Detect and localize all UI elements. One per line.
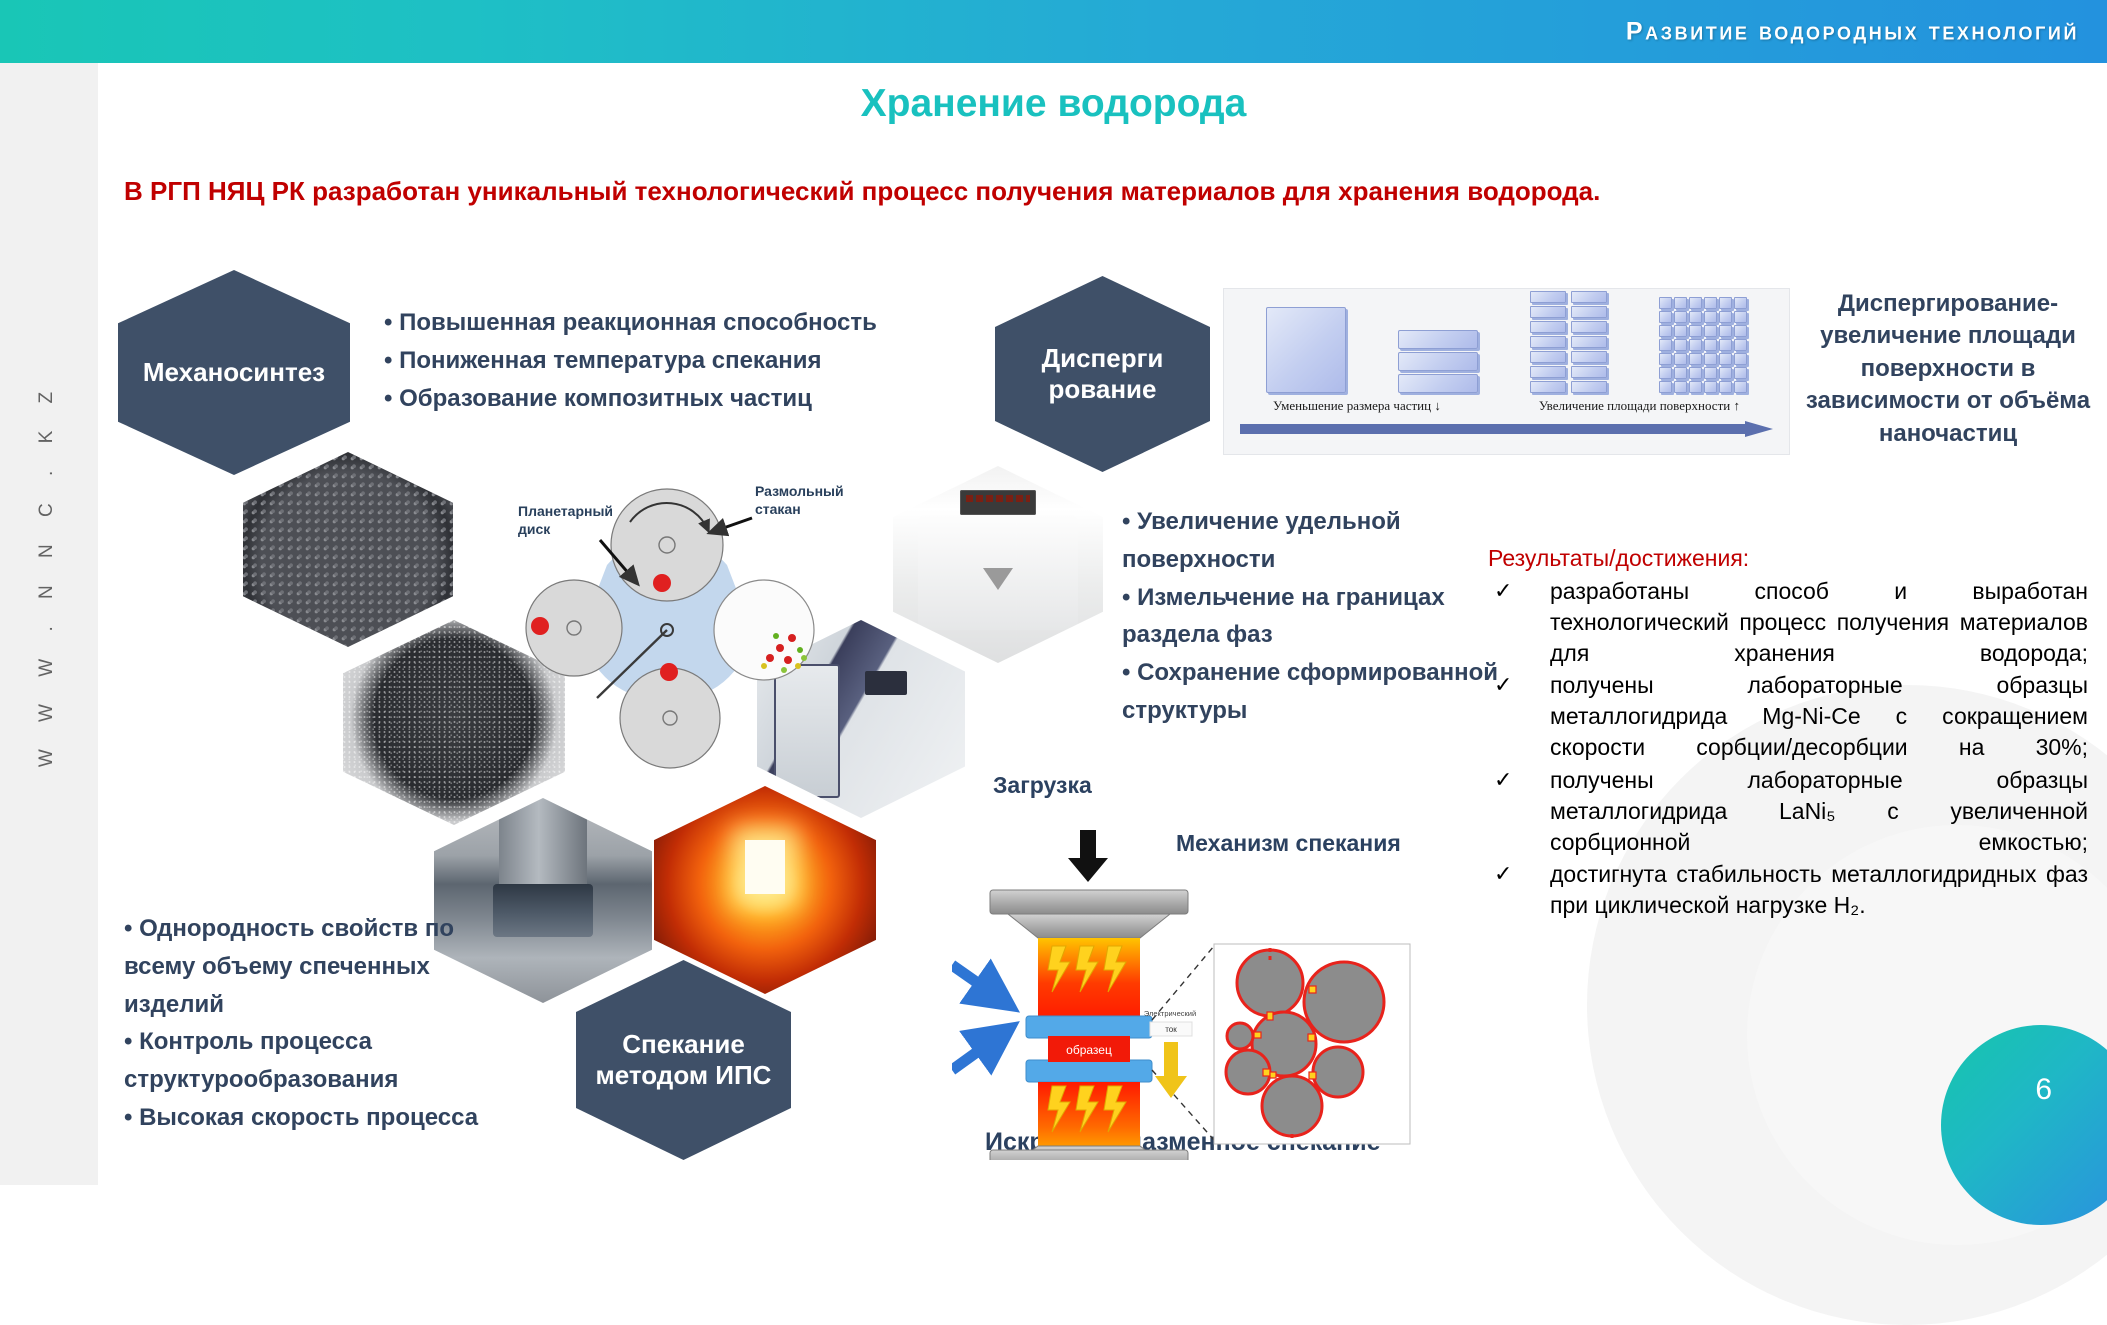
nanocube [1689,381,1702,393]
page-number: 6 [2035,1073,2052,1107]
list-item: ✓ получены лабораторные образцы металлог… [1488,765,2088,857]
plate [1530,321,1566,333]
subdivision-stages [1224,295,1789,393]
nanocube [1689,325,1702,337]
header-title: Развитие водородных технологий [1626,17,2079,46]
check-icon: ✓ [1494,670,1512,699]
check-icon: ✓ [1494,576,1512,605]
label-particle-size-decrease: Уменьшение размера частиц ↓ [1273,398,1441,414]
bullet-item: • Образование композитных частиц [384,382,984,417]
nanocube [1674,339,1687,351]
nanocube [1689,297,1702,309]
nanocube [1719,339,1732,351]
nanocube [1674,367,1687,379]
nanocube [1659,311,1672,323]
nanocube [1719,367,1732,379]
plate [1571,321,1607,333]
plate [1530,336,1566,348]
cabinet-screen [865,671,907,695]
nanocube [1719,353,1732,365]
press-ram [499,798,586,884]
subdivision-axis-labels: Уменьшение размера частиц ↓ Увеличение п… [1224,393,1789,419]
svg-text:Электрический: Электрический [1144,1009,1196,1018]
bullet-item: • Повышенная реакционная способность [384,306,984,341]
nanocube [1734,339,1747,351]
bullets-dispersion: • Увеличение удельной поверхности • Изме… [1122,505,1522,732]
machine-control-panel [960,490,1036,516]
svg-text:образец: образец [1066,1043,1112,1057]
slide-root: Развитие водородных технологий W W W . N… [0,0,2107,1185]
press-die [493,884,593,937]
hex-dispersion-label: Дисперги рование [1042,343,1164,404]
down-arrow-icon: ↓ [1434,398,1441,413]
label-surface-area-increase: Увеличение площади поверхности ↑ [1539,398,1740,414]
slab [1398,352,1478,371]
bullet-item: структурообразования [124,1063,494,1098]
page-subtitle: В РГП НЯЦ РК разработан уникальный техно… [124,176,1600,207]
sps-diagram: образец Электрический ток [952,820,1422,1160]
plate [1571,381,1607,393]
nanocube [1704,325,1717,337]
cube-block [1266,307,1346,393]
nanocube [1659,325,1672,337]
list-item-text: получены лабораторные образцы металлогид… [1550,767,2088,855]
bullet-item: раздела фаз [1122,618,1522,653]
bullet-item: • Сохранение сформированной [1122,656,1522,691]
results-block: Результаты/достижения: ✓ разработаны спо… [1488,545,2088,923]
bullet-item: поверхности [1122,543,1522,578]
bullet-item: изделий [124,988,494,1023]
nanocube [1734,381,1747,393]
check-icon: ✓ [1494,765,1512,794]
nanocube [1659,381,1672,393]
stage-single-cube [1266,307,1346,393]
furnace-hot-core [745,840,785,894]
plate [1530,291,1566,303]
photo-milling-balls [243,452,453,647]
nanocube [1704,381,1717,393]
website-url: W W W . N N C . K Z [36,364,58,784]
nanocube [1674,353,1687,365]
list-item: ✓ достигнута стабильность металлогидридн… [1488,859,2088,921]
nanocube [1719,325,1732,337]
bullet-item: • Увеличение удельной [1122,505,1522,540]
plate [1571,366,1607,378]
sps-label-load: Загрузка [993,772,1092,799]
nanocube [1674,311,1687,323]
plate-grid [1530,291,1607,393]
mill-label-planetary-disk: Планетарный диск [518,503,608,538]
nanocube [1674,381,1687,393]
hex-mechanosynthesis[interactable]: Механосинтез [118,270,350,475]
plate [1571,306,1607,318]
bullet-item: • Однородность свойств по [124,912,494,947]
nanocube [1734,353,1747,365]
nanocube [1704,339,1717,351]
nanocube [1674,325,1687,337]
nanocube [1704,297,1717,309]
bullet-item: • Контроль процесса [124,1025,494,1060]
plate [1571,291,1607,303]
bullet-item: • Высокая скорость процесса [124,1101,494,1136]
nanocube [1704,311,1717,323]
hex-mechanosynthesis-label: Механосинтез [143,357,325,388]
hex-sintering-label-line1: Спекание [622,1029,745,1059]
plate [1530,366,1566,378]
plate [1571,336,1607,348]
nanocube [1734,367,1747,379]
nanocube [1704,353,1717,365]
nanocube [1659,339,1672,351]
slab [1398,330,1478,349]
list-item: ✓ получены лабораторные образцы металлог… [1488,670,2088,762]
bullet-item: структуры [1122,694,1522,729]
up-arrow-icon: ↑ [1733,398,1740,413]
stage-three-slabs [1398,330,1478,393]
stage-nanoparticles [1659,297,1747,393]
direction-arrow [1240,421,1773,437]
dispersion-note: Диспергирование-увеличение площади повер… [1800,288,2096,450]
svg-text:ток: ток [1165,1025,1177,1034]
nanocube-grid [1659,297,1747,393]
bullets-mechanosynthesis: • Повышенная реакционная способность • П… [384,306,984,419]
nanocube [1734,297,1747,309]
nanocube [1689,367,1702,379]
stage-many-plates [1530,291,1607,393]
nanocube [1674,297,1687,309]
nanocube [1659,353,1672,365]
list-item-text: получены лабораторные образцы металлогид… [1550,672,2088,760]
mill-label-grinding-jar: Размольный стакан [755,483,847,518]
bullet-item: • Измельчение на границах [1122,581,1522,616]
nanocube [1689,353,1702,365]
hex-sintering-label-line2: методом ИПС [596,1060,772,1090]
nanocube [1719,297,1732,309]
nanocube [1734,325,1747,337]
machine-triangle-icon [983,568,1013,590]
left-rail: W W W . N N C . K Z [0,63,98,1185]
plate [1530,351,1566,363]
nanocube [1659,297,1672,309]
nanocube [1689,311,1702,323]
bullets-sintering: • Однородность свойств по всему объему с… [124,912,494,1139]
photo-dispersion-machine [893,466,1103,663]
plate [1530,381,1566,393]
slab [1398,374,1478,393]
header-band: Развитие водородных технологий [0,0,2107,63]
hex-dispersion[interactable]: Дисперги рование [995,276,1210,472]
particle-subdivision-figure: Уменьшение размера частиц ↓ Увеличение п… [1223,288,1790,455]
list-item: ✓ разработаны способ и выработан техноло… [1488,576,2088,668]
nanocube [1659,367,1672,379]
hex-dispersion-label-line1: Дисперги [1042,343,1164,373]
bullet-item: • Пониженная температура спекания [384,344,984,379]
hex-sintering-label: Спекание методом ИПС [596,1029,772,1090]
plate [1571,351,1607,363]
list-item-text: достигнута стабильность металлогидридных… [1550,861,2088,918]
list-item-text: разработаны способ и выработан технологи… [1550,578,2088,666]
check-icon: ✓ [1494,859,1512,888]
hex-dispersion-label-line2: рование [1048,374,1156,404]
sps-diagram-svg: образец Электрический ток [952,820,1422,1160]
plate [1530,306,1566,318]
nanocube [1689,339,1702,351]
nanocube [1719,381,1732,393]
bullet-item: всему объему спеченных [124,950,494,985]
nanocube [1704,367,1717,379]
results-heading: Результаты/достижения: [1488,545,2088,572]
nanocube [1734,311,1747,323]
nanocube [1719,311,1732,323]
results-list: ✓ разработаны способ и выработан техноло… [1488,576,2088,921]
page-title: Хранение водорода [0,82,2107,126]
